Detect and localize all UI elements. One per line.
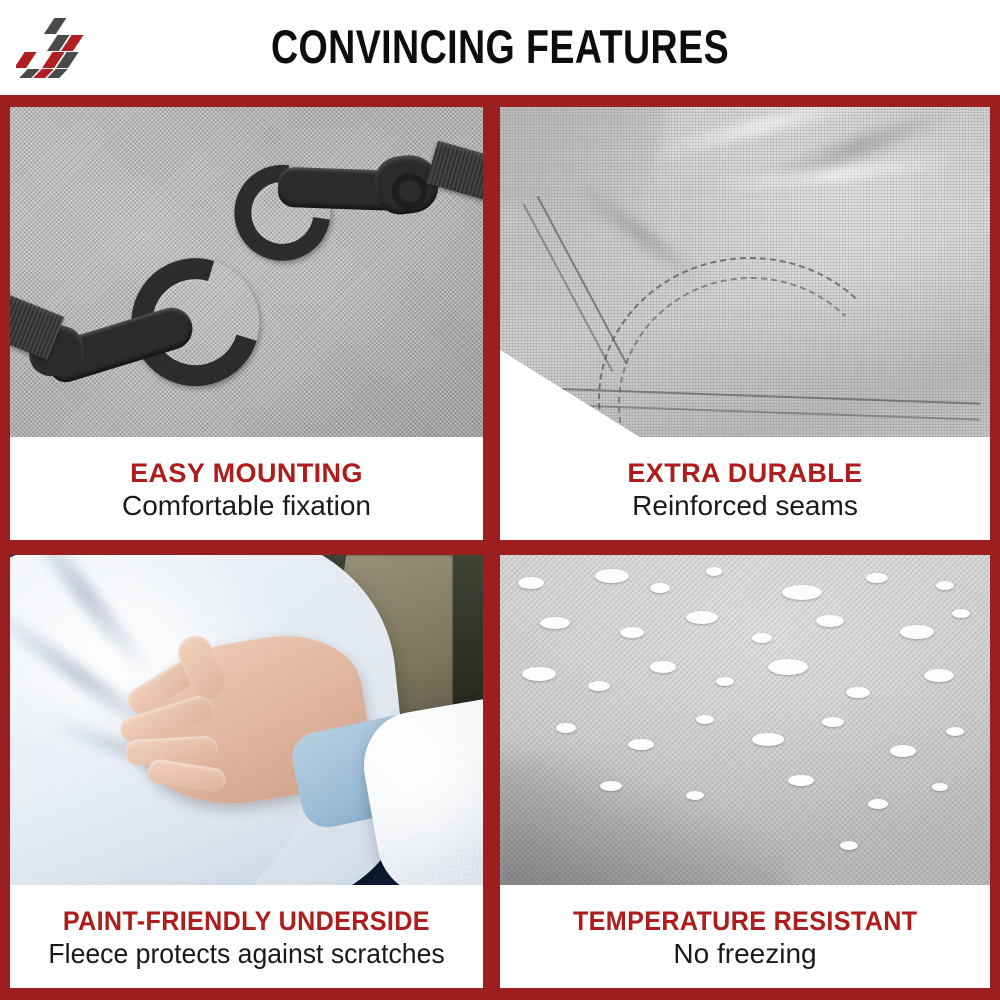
feature-subtext: Comfortable fixation: [122, 489, 371, 523]
snow-flake: [846, 687, 870, 698]
fabric-shadow: [500, 755, 790, 885]
checkered-flag-logo: [16, 16, 92, 80]
snow-flake: [822, 717, 844, 727]
feature-image-temperature-resistant: [500, 555, 990, 885]
feature-image-extra-durable: [500, 107, 990, 437]
snow-flake: [866, 573, 888, 583]
snow-flake: [706, 567, 722, 576]
snow-flake: [595, 569, 629, 583]
feature-subtext: No freezing: [673, 937, 816, 971]
snow-flake: [868, 799, 888, 809]
snow-flake: [890, 745, 916, 757]
snow-flake: [518, 577, 544, 589]
snow-flake: [650, 583, 670, 593]
snow-flake: [946, 727, 964, 736]
feature-headline: EASY MOUNTING: [130, 457, 363, 489]
snow-flake: [816, 615, 844, 627]
snow-flake: [686, 611, 718, 624]
feature-card-paint-friendly-underside[interactable]: PAINT-FRIENDLY UNDERSIDE Fleece protects…: [10, 555, 483, 988]
feature-card-temperature-resistant[interactable]: TEMPERATURE RESISTANT No freezing: [500, 555, 990, 988]
feature-subtext: Fleece protects against scratches: [48, 937, 444, 971]
feature-image-paint-friendly-underside: [10, 555, 483, 885]
infographic-page: CONVINCING FEATURES: [0, 0, 1000, 1000]
snow-flake: [686, 791, 704, 800]
feature-image-easy-mounting: [10, 107, 483, 437]
snow-flake: [952, 609, 970, 618]
feature-card-easy-mounting[interactable]: EASY MOUNTING Comfortable fixation: [10, 107, 483, 540]
feature-headline: PAINT-FRIENDLY UNDERSIDE: [63, 905, 430, 937]
feature-grid: EASY MOUNTING Comfortable fixation: [0, 95, 1000, 1000]
snow-flake: [752, 633, 772, 643]
snow-flake: [932, 783, 948, 791]
header: CONVINCING FEATURES: [0, 0, 1000, 95]
snow-flake: [788, 775, 814, 786]
snow-flake: [900, 625, 934, 639]
snow-flake: [782, 585, 822, 600]
snow-flake: [936, 581, 954, 590]
snow-flake: [696, 715, 714, 724]
snow-flake: [620, 627, 644, 638]
feature-headline: EXTRA DURABLE: [627, 457, 862, 489]
feature-caption-easy-mounting: EASY MOUNTING Comfortable fixation: [10, 437, 483, 540]
snow-flake: [588, 681, 610, 691]
feature-headline: TEMPERATURE RESISTANT: [573, 905, 917, 937]
page-title: CONVINCING FEATURES: [100, 20, 900, 74]
snow-flake: [650, 661, 676, 673]
feature-card-extra-durable[interactable]: EXTRA DURABLE Reinforced seams: [500, 107, 990, 540]
feature-caption-temperature-resistant: TEMPERATURE RESISTANT No freezing: [500, 885, 990, 988]
snow-flake: [840, 841, 858, 850]
snow-flake: [768, 659, 808, 675]
snow-flake: [540, 617, 570, 629]
feature-caption-paint-friendly-underside: PAINT-FRIENDLY UNDERSIDE Fleece protects…: [10, 885, 483, 988]
snow-flake: [752, 733, 784, 746]
snow-flake: [924, 669, 954, 682]
feature-subtext: Reinforced seams: [632, 489, 858, 523]
feature-caption-extra-durable: EXTRA DURABLE Reinforced seams: [500, 437, 990, 540]
snow-flake: [716, 677, 734, 686]
snow-flake: [600, 781, 622, 791]
snow-flake: [522, 667, 556, 681]
snow-flake: [556, 723, 576, 733]
snow-flake: [628, 739, 654, 750]
